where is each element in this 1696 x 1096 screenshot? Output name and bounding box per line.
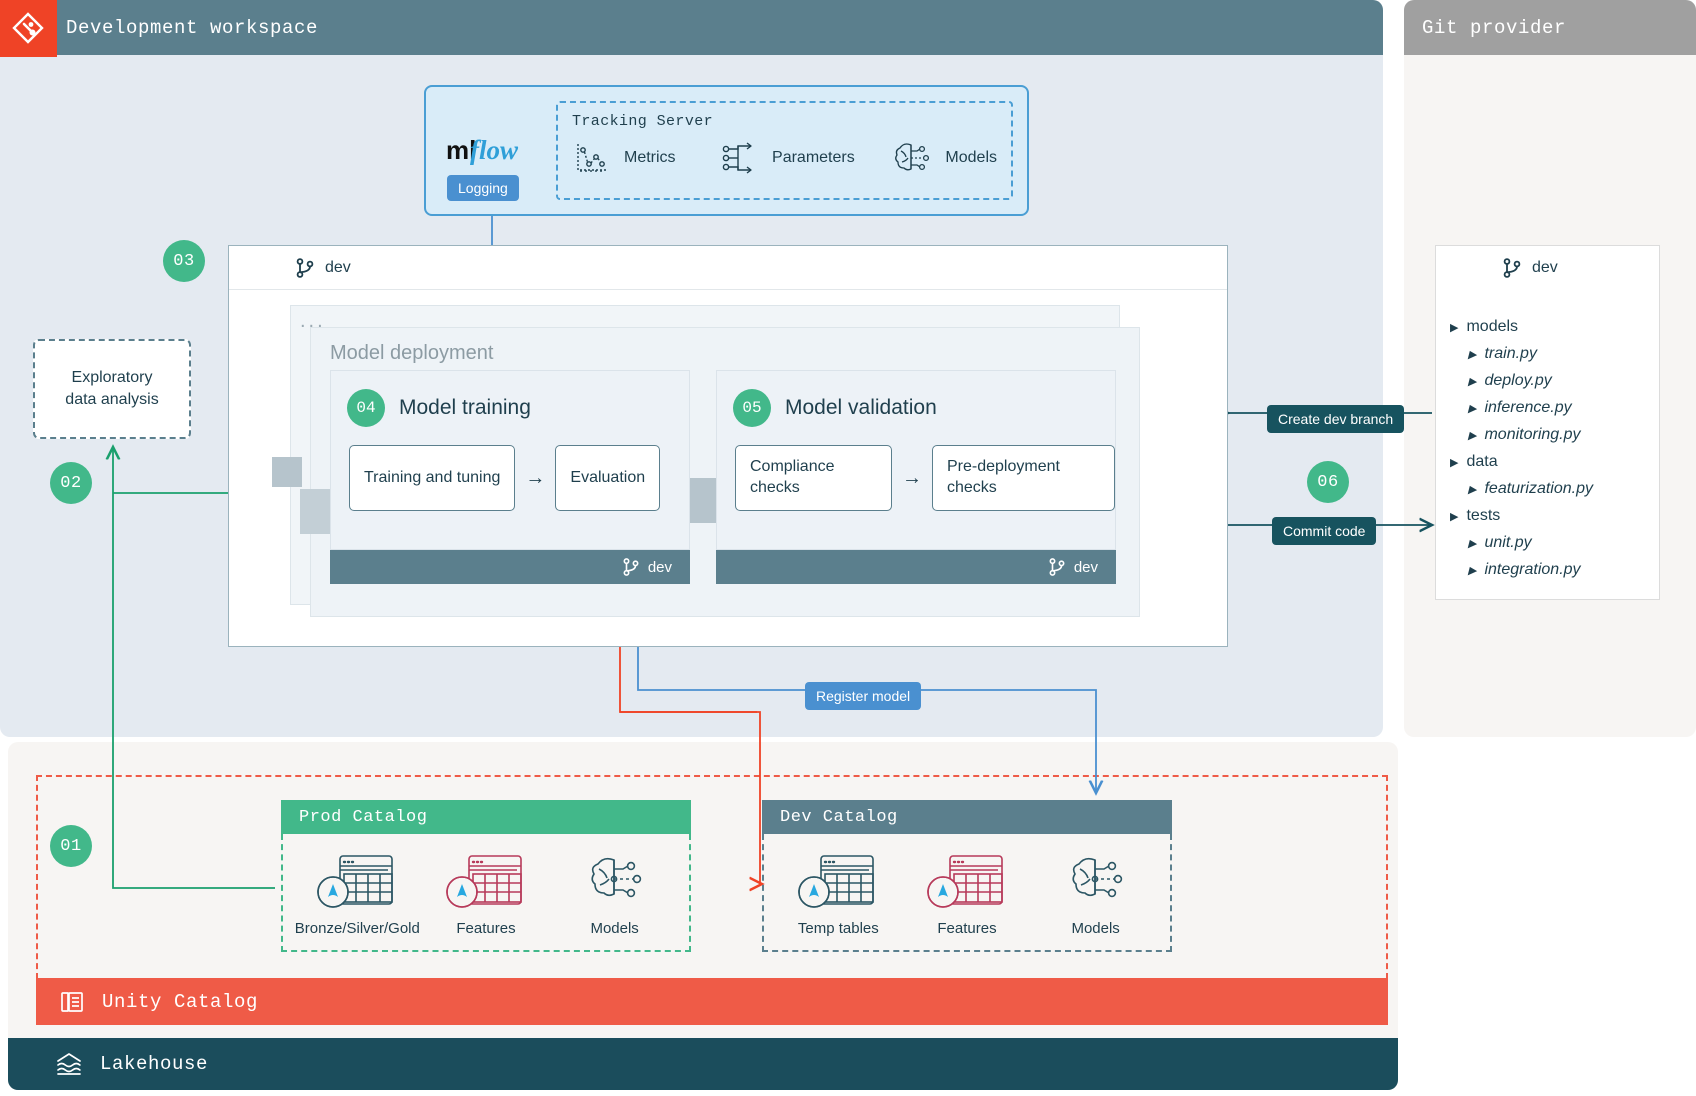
register-model-badge: Register model — [805, 682, 921, 710]
stack-tab-1 — [272, 457, 302, 487]
step-badge-05: 05 — [733, 389, 771, 427]
tree-label: data — [1466, 453, 1497, 471]
unity-catalog-boundary — [36, 775, 1388, 979]
tree-item-monitoring-py[interactable]: ▶monitoring.py — [1450, 426, 1660, 444]
prod-catalog-label-tables: Bronze/Silver/Gold — [295, 920, 420, 937]
svg-text:flow: flow — [470, 135, 519, 165]
training-and-tuning-box: Training and tuning — [349, 445, 515, 511]
step-badge-02: 02 — [50, 462, 92, 504]
brain-circuit-icon — [1064, 852, 1128, 912]
create-dev-branch-badge: Create dev branch — [1267, 405, 1404, 433]
git-branch-icon — [1502, 257, 1522, 279]
development-workspace-header: Development workspace — [0, 0, 1383, 55]
git-provider-title: Git provider — [1422, 17, 1566, 39]
brain-circuit-icon — [891, 138, 933, 178]
model-validation-card: 05 Model validation Compliance checks → … — [716, 370, 1116, 550]
tree-label: models — [1466, 318, 1518, 336]
step-badge-03: 03 — [163, 240, 205, 282]
tracking-models-item: Models — [891, 138, 997, 178]
model-deployment-label: Model deployment — [330, 342, 493, 365]
caret-right-icon: ▶ — [1468, 483, 1476, 496]
feature-table-icon — [443, 852, 529, 912]
tree-item-integration-py[interactable]: ▶integration.py — [1450, 561, 1660, 579]
model-validation-footer: dev — [716, 550, 1116, 584]
exploratory-data-analysis-box: Exploratory data analysis — [33, 339, 191, 439]
prod-catalog-item-models: Models — [555, 852, 675, 937]
caret-right-icon: ▶ — [1450, 510, 1458, 523]
tree-item-inference-py[interactable]: ▶inference.py — [1450, 399, 1660, 417]
tree-label: inference.py — [1484, 399, 1571, 417]
tracking-server-title: Tracking Server — [572, 113, 997, 130]
mlflow-logo: ml flow — [446, 134, 546, 168]
prod-catalog: Prod Catalog Bronze/Silver/Gold — [281, 800, 691, 952]
lakehouse-icon — [54, 1049, 84, 1079]
tracking-parameters-label: Parameters — [772, 149, 855, 167]
arrow-right-icon: → — [902, 467, 922, 490]
stack-tab-2 — [300, 489, 330, 534]
git-logo-icon — [0, 0, 57, 57]
dev-catalog-label-models: Models — [1071, 920, 1119, 937]
tracking-metrics-item: Metrics — [572, 138, 718, 178]
evaluation-box: Evaluation — [555, 445, 660, 511]
git-branch-icon — [295, 257, 315, 279]
dev-window-titlebar: dev — [229, 246, 1227, 290]
stack-tab-3 — [686, 478, 716, 523]
page-title: Development workspace — [66, 17, 318, 39]
repo-titlebar: dev — [1436, 246, 1659, 290]
feature-table-icon — [924, 852, 1010, 912]
caret-right-icon: ▶ — [1468, 429, 1476, 442]
dev-catalog-item-temp-tables: Temp tables — [778, 852, 898, 937]
commit-code-badge: Commit code — [1272, 517, 1376, 545]
prod-catalog-label-features: Features — [456, 920, 515, 937]
pre-deployment-checks-box: Pre-deployment checks — [932, 445, 1115, 511]
tracking-metrics-label: Metrics — [624, 149, 676, 167]
prod-catalog-label-models: Models — [590, 920, 638, 937]
unity-catalog-title: Unity Catalog — [102, 991, 258, 1013]
tree-label: deploy.py — [1484, 372, 1551, 390]
dev-catalog-item-features: Features — [907, 852, 1027, 937]
delta-table-icon — [314, 852, 400, 912]
tree-label: featurization.py — [1484, 480, 1593, 498]
parameters-flow-icon — [718, 138, 760, 178]
tracking-models-label: Models — [945, 149, 997, 167]
caret-right-icon: ▶ — [1468, 564, 1476, 577]
dev-catalog-item-models: Models — [1036, 852, 1156, 937]
tree-item-tests[interactable]: ▶tests — [1450, 507, 1660, 525]
model-training-footer: dev — [330, 550, 690, 584]
tree-label: tests — [1466, 507, 1500, 525]
compliance-checks-box: Compliance checks — [735, 445, 892, 511]
arrow-right-icon: → — [525, 467, 545, 490]
unity-catalog-bar: Unity Catalog — [36, 978, 1388, 1025]
catalog-book-icon — [58, 988, 86, 1016]
lakehouse-bar: Lakehouse — [8, 1038, 1398, 1090]
dev-catalog-title: Dev Catalog — [762, 800, 1172, 834]
caret-right-icon: ▶ — [1468, 402, 1476, 415]
dev-window-branch-label: dev — [325, 259, 351, 277]
prod-catalog-title: Prod Catalog — [281, 800, 691, 834]
caret-right-icon: ▶ — [1450, 321, 1458, 334]
model-training-card: 04 Model training Training and tuning → … — [330, 370, 690, 550]
tree-item-data[interactable]: ▶data — [1450, 453, 1660, 471]
dev-catalog-label-features: Features — [937, 920, 996, 937]
tree-label: train.py — [1484, 345, 1536, 363]
tracking-parameters-item: Parameters — [718, 138, 891, 178]
overflow-dots: ... — [300, 310, 326, 333]
caret-right-icon: ▶ — [1450, 456, 1458, 469]
tree-item-featurization-py[interactable]: ▶featurization.py — [1450, 480, 1660, 498]
caret-right-icon: ▶ — [1468, 375, 1476, 388]
tree-item-train-py[interactable]: ▶train.py — [1450, 345, 1660, 363]
brain-circuit-icon — [583, 852, 647, 912]
tree-label: unit.py — [1484, 534, 1531, 552]
line-chart-icon — [572, 138, 612, 178]
git-provider-header: Git provider — [1404, 0, 1696, 55]
caret-right-icon: ▶ — [1468, 537, 1476, 550]
model-validation-footer-branch: dev — [1074, 559, 1098, 576]
caret-right-icon: ▶ — [1468, 348, 1476, 361]
repo-branch-label: dev — [1532, 259, 1558, 277]
tree-label: monitoring.py — [1484, 426, 1580, 444]
model-training-title: Model training — [399, 396, 531, 420]
step-badge-04: 04 — [347, 389, 385, 427]
eda-line-1: Exploratory — [65, 367, 158, 389]
step-badge-01: 01 — [50, 825, 92, 867]
tree-item-unit-py[interactable]: ▶unit.py — [1450, 534, 1660, 552]
tracking-server-box: Tracking Server Metrics — [556, 101, 1013, 200]
prod-catalog-item-tables: Bronze/Silver/Gold — [297, 852, 417, 937]
eda-line-2: data analysis — [65, 389, 158, 411]
lakehouse-title: Lakehouse — [100, 1053, 208, 1075]
dev-catalog: Dev Catalog Temp tables — [762, 800, 1172, 952]
model-training-footer-branch: dev — [648, 559, 672, 576]
tree-item-models[interactable]: ▶models — [1450, 318, 1660, 336]
tree-item-deploy-py[interactable]: ▶deploy.py — [1450, 372, 1660, 390]
logging-badge: Logging — [447, 175, 519, 201]
tree-label: integration.py — [1484, 561, 1580, 579]
git-repo-card: dev ▶models ▶train.py ▶deploy.py ▶infere… — [1435, 245, 1660, 600]
git-branch-icon — [1048, 557, 1066, 577]
file-tree: ▶models ▶train.py ▶deploy.py ▶inference.… — [1450, 318, 1660, 588]
dev-catalog-label-temp-tables: Temp tables — [798, 920, 879, 937]
model-validation-title: Model validation — [785, 396, 937, 420]
git-branch-icon — [622, 557, 640, 577]
delta-table-icon — [795, 852, 881, 912]
prod-catalog-item-features: Features — [426, 852, 546, 937]
step-badge-06: 06 — [1307, 461, 1349, 503]
